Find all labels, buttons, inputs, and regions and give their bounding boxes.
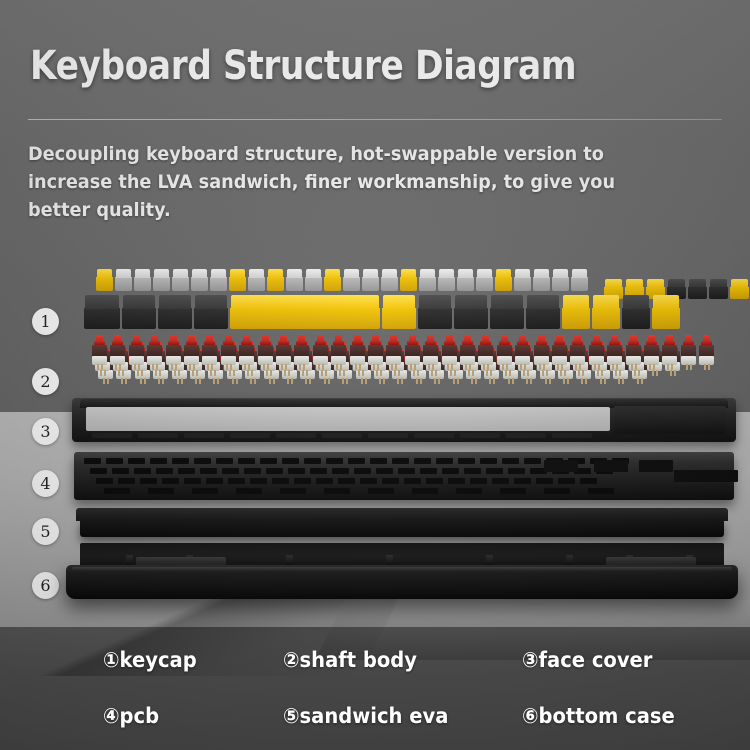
pcb-switch-cutout	[140, 478, 157, 484]
keycap-top	[439, 269, 454, 278]
keycap-top	[496, 269, 511, 278]
switch-pin	[325, 370, 327, 376]
switch-pin	[526, 378, 528, 384]
pcb-switch-cutout	[194, 458, 211, 464]
switch-pin	[487, 364, 489, 370]
switch-base	[92, 356, 107, 365]
keycap	[305, 269, 322, 291]
case-standoff	[286, 555, 293, 565]
switch-pin	[359, 364, 361, 370]
pcb-switch-cutout	[338, 478, 355, 484]
switch-pin	[299, 364, 301, 370]
switch-base	[681, 356, 696, 365]
keycap-skirt	[382, 308, 416, 329]
switch-pin	[171, 364, 173, 370]
switch-pin	[137, 370, 139, 376]
pcb-stabilizer	[639, 460, 673, 472]
mechanical-switch	[405, 335, 420, 365]
keycap-top	[135, 269, 150, 278]
pcb-switch-cutout	[150, 458, 167, 464]
pcb-switch-cutout	[288, 468, 305, 474]
switch-pin	[447, 364, 449, 370]
keycap	[730, 279, 749, 299]
switch-pin	[141, 370, 143, 376]
switch-pin	[502, 364, 504, 370]
switch-pin	[162, 378, 164, 384]
switch-pin	[155, 370, 157, 376]
switch-pin	[434, 378, 436, 384]
pcb-switch-cutout	[272, 478, 289, 484]
pcb-switch-cutout	[250, 478, 267, 484]
switch-pin	[125, 378, 127, 384]
switch-pin	[232, 378, 234, 384]
keycap-skirt	[267, 277, 284, 291]
keycap	[571, 269, 588, 291]
switch-pin	[213, 378, 215, 384]
keycap-top	[491, 295, 523, 309]
mechanical-switch	[276, 335, 291, 365]
switch-base	[350, 356, 365, 365]
switch-pin	[618, 378, 620, 384]
switch-base	[202, 356, 217, 365]
pcb-switch-cutout	[348, 458, 365, 464]
keycap-skirt	[709, 287, 728, 299]
keycap-top	[455, 295, 487, 309]
keycap-top	[306, 269, 321, 278]
switch-pin	[581, 378, 583, 384]
switch-pin	[211, 364, 213, 370]
switch-pin	[199, 378, 201, 384]
keycap-skirt	[381, 277, 398, 291]
switch-pin	[373, 364, 375, 370]
switch-pin	[431, 370, 433, 376]
switch-pin	[509, 370, 511, 376]
layer-sandwich-eva	[76, 508, 728, 538]
keycap-skirt	[194, 308, 228, 329]
pcb-switch-cutout	[508, 468, 525, 474]
face-cover-slot	[460, 433, 500, 438]
switch-pin	[379, 378, 381, 384]
pcb-switch-cutout	[464, 468, 481, 474]
switch-pin	[394, 370, 396, 376]
switch-pin	[355, 364, 357, 370]
keycap-top	[344, 269, 359, 278]
switch-pin	[416, 378, 418, 384]
pcb-switch-cutout	[216, 458, 233, 464]
switch-pin	[101, 364, 103, 370]
keycap	[552, 269, 569, 291]
pcb-switch-cutout	[304, 458, 321, 464]
switch-pin	[193, 364, 195, 370]
keycap-top	[563, 295, 589, 309]
switch-pin	[413, 370, 415, 376]
keycap-top	[458, 269, 473, 278]
switch-base	[644, 356, 659, 365]
keycap-top	[230, 269, 245, 278]
pcb-switch-cutout	[588, 488, 614, 494]
switch-pin	[244, 364, 246, 370]
switch-pin	[181, 378, 183, 384]
keycap-skirt	[400, 277, 417, 291]
switch-pin	[520, 364, 522, 370]
keycap-skirt	[622, 308, 650, 329]
switch-pin	[328, 378, 330, 384]
switch-pin	[380, 370, 382, 376]
mechanical-switch	[570, 335, 585, 365]
switch-pin	[432, 364, 434, 370]
switch-pin	[207, 364, 209, 370]
switch-pin	[287, 378, 289, 384]
switch-base	[276, 356, 291, 365]
switch-base	[184, 356, 199, 365]
face-cover-slot	[138, 433, 178, 438]
keycap-top	[382, 269, 397, 278]
keycap-skirt	[457, 277, 474, 291]
face-cover-slot	[92, 433, 132, 438]
keycap-top	[97, 269, 112, 278]
switch-pin	[100, 370, 102, 376]
keycap	[343, 269, 360, 291]
face-cover-slot	[230, 433, 270, 438]
keycap-top	[154, 269, 169, 278]
keycap	[115, 269, 132, 291]
switch-base	[626, 356, 641, 365]
switch-pin	[303, 364, 305, 370]
layer-face-cover	[72, 398, 736, 442]
keycap	[457, 269, 474, 291]
legend-item-sandwich-eva: ⑤sandwich eva	[283, 704, 448, 728]
switch-pin	[585, 378, 587, 384]
pcb-switch-cutout	[280, 488, 306, 494]
switch-pin	[505, 370, 507, 376]
switch-pin	[641, 378, 643, 384]
mechanical-switch	[386, 335, 401, 365]
switch-base	[386, 356, 401, 365]
pcb-switch-cutout	[222, 468, 239, 474]
layer-pcb	[74, 452, 734, 500]
keycap	[382, 295, 416, 329]
keycap	[476, 269, 493, 291]
switch-pin	[336, 364, 338, 370]
switch-base	[552, 356, 567, 365]
pcb-switch-cutout	[580, 478, 597, 484]
keycap-top	[268, 269, 283, 278]
mechanical-switch	[350, 335, 365, 365]
exploded-keyboard-stack	[0, 255, 750, 635]
switch-base	[129, 356, 144, 365]
mechanical-switch	[294, 335, 309, 365]
pcb-switch-cutout	[404, 478, 421, 484]
pcb-switch-cutout	[266, 468, 283, 474]
keycap	[652, 295, 680, 329]
switch-pin	[604, 378, 606, 384]
switch-pin	[472, 370, 474, 376]
switch-pin	[564, 370, 566, 376]
switch-pin	[637, 378, 639, 384]
keycap-skirt	[418, 308, 452, 329]
pcb-switch-cutout	[536, 478, 553, 484]
switch-pin	[362, 370, 364, 376]
switch-pin	[468, 370, 470, 376]
switch-pin	[619, 370, 621, 376]
mechanical-switch	[607, 335, 622, 365]
switch-pin	[546, 370, 548, 376]
switch-pin	[563, 378, 565, 384]
keycap	[172, 269, 189, 291]
keycap-top	[211, 269, 226, 278]
keycap	[709, 279, 728, 299]
pcb-switch-cutout	[178, 468, 195, 474]
keycap	[454, 295, 488, 329]
switch-pin	[377, 364, 379, 370]
switch-pin	[597, 370, 599, 376]
mechanical-switch	[497, 335, 512, 365]
switch-pin	[339, 370, 341, 376]
pcb-switch-cutout	[244, 468, 261, 474]
pcb-switch-cutout	[412, 488, 438, 494]
face-cover-right-cluster	[614, 406, 726, 434]
switch-base	[534, 356, 549, 365]
pcb-switch-cutout	[458, 458, 475, 464]
keycap-top	[419, 295, 451, 309]
switch-pin	[465, 364, 467, 370]
switch-pin	[490, 370, 492, 376]
keycap-top	[668, 279, 685, 287]
switch-pin	[567, 378, 569, 384]
layer-keycaps	[84, 269, 732, 329]
keycap-skirt	[688, 287, 707, 299]
pcb-switch-cutout	[370, 458, 387, 464]
switch-pin	[177, 378, 179, 384]
keycap-skirt	[153, 277, 170, 291]
switch-pin	[134, 364, 136, 370]
switch-pin	[530, 378, 532, 384]
pcb-switch-cutout	[128, 458, 145, 464]
keycap-top	[593, 295, 619, 309]
switch-pin	[395, 364, 397, 370]
keycap-skirt	[191, 277, 208, 291]
keycap-skirt	[115, 277, 132, 291]
mechanical-switch	[129, 335, 144, 365]
pcb-switch-cutout	[480, 458, 497, 464]
switch-pin	[217, 378, 219, 384]
switch-pin	[438, 378, 440, 384]
layer-bottom-case	[66, 543, 738, 605]
pcb-switch-cutout	[106, 458, 123, 464]
switch-pin	[454, 370, 456, 376]
switch-base	[147, 356, 162, 365]
switch-pin	[229, 370, 231, 376]
mechanical-switch	[626, 335, 641, 365]
pcb-switch-cutout	[392, 458, 409, 464]
switch-pin	[508, 378, 510, 384]
switch-pin	[414, 364, 416, 370]
switch-pin	[138, 364, 140, 370]
switch-pin	[195, 378, 197, 384]
switch-pin	[178, 370, 180, 376]
keycap	[533, 269, 550, 291]
mechanical-switch	[92, 335, 107, 365]
keycap	[688, 279, 707, 299]
keycap-top	[689, 279, 706, 287]
pcb-stabilizer	[594, 460, 628, 472]
keycap-skirt	[419, 277, 436, 291]
switch-pin	[557, 364, 559, 370]
page-subtitle: Decoupling keyboard structure, hot-swapp…	[28, 140, 672, 224]
switch-pin	[361, 378, 363, 384]
pcb-switch-cutout	[456, 488, 482, 494]
keycap	[191, 269, 208, 291]
mechanical-switch	[331, 335, 346, 365]
keycap-skirt	[730, 287, 749, 299]
switch-pin	[159, 370, 161, 376]
pcb-switch-cutout	[134, 468, 151, 474]
keycap-skirt	[476, 277, 493, 291]
switch-pin	[656, 370, 658, 376]
face-cover-slot	[322, 433, 362, 438]
mechanical-switch	[313, 335, 328, 365]
case-standoff	[386, 555, 393, 565]
pcb-switch-cutout	[426, 478, 443, 484]
switch-base	[662, 356, 677, 365]
switch-pin	[144, 378, 146, 384]
switch-pin	[398, 370, 400, 376]
switch-pin	[615, 370, 617, 376]
switch-pin	[97, 364, 99, 370]
pcb-switch-cutout	[514, 478, 531, 484]
keycap-skirt	[652, 308, 680, 329]
keycap-skirt	[592, 308, 620, 329]
switch-base	[368, 356, 383, 365]
switch-pin	[561, 364, 563, 370]
switch-pin	[281, 364, 283, 370]
legend-item-keycap: ①keycap	[103, 648, 197, 672]
keycap	[526, 295, 560, 329]
switch-pin	[306, 370, 308, 376]
switch-base	[331, 356, 346, 365]
switch-pin	[342, 378, 344, 384]
case-standoff	[566, 555, 573, 565]
switch-pin	[324, 378, 326, 384]
switch-pin	[527, 370, 529, 376]
pcb-switch-cutout	[104, 488, 130, 494]
pcb-switch-cutout	[382, 478, 399, 484]
switch-pin	[346, 378, 348, 384]
switch-pin	[670, 370, 672, 376]
keycap-skirt	[324, 277, 341, 291]
pcb-switch-cutout	[238, 458, 255, 464]
legend-item-pcb: ④pcb	[103, 704, 159, 728]
switch-base	[110, 356, 125, 365]
switch-pin	[549, 378, 551, 384]
pcb-switch-cutout	[414, 458, 431, 464]
mechanical-switch	[515, 335, 530, 365]
pcb-switch-cutout	[332, 468, 349, 474]
switch-pin	[489, 378, 491, 384]
switch-pin	[469, 364, 471, 370]
keycap-skirt	[343, 277, 360, 291]
switch-pin	[560, 370, 562, 376]
pcb-switch-cutout	[316, 478, 333, 484]
keycap-top	[553, 269, 568, 278]
legend-item-shaft-body: ②shaft body	[283, 648, 417, 672]
pcb-switch-cutout	[118, 478, 135, 484]
keycap-top	[192, 269, 207, 278]
face-cover-slot	[506, 433, 546, 438]
switch-pin	[428, 364, 430, 370]
keycap	[419, 269, 436, 291]
keycap-top	[123, 295, 155, 309]
switch-pin	[192, 370, 194, 376]
keycap	[158, 295, 192, 329]
switch-base	[607, 356, 622, 365]
face-cover-slot	[276, 433, 316, 438]
pcb-switch-cutout	[470, 478, 487, 484]
mechanical-switch	[166, 335, 181, 365]
switch-pin	[302, 370, 304, 376]
keycap	[381, 269, 398, 291]
switch-pin	[612, 364, 614, 370]
switch-base	[294, 356, 309, 365]
pcb-switch-cutout	[112, 468, 129, 474]
keycap-top	[534, 269, 549, 278]
switch-pin	[107, 378, 109, 384]
legend-item-face-cover: ③face cover	[522, 648, 652, 672]
keycap-top	[515, 269, 530, 278]
keycap-top	[401, 269, 416, 278]
switch-pin	[343, 370, 345, 376]
keycap-top	[231, 295, 379, 309]
mechanical-switch	[534, 335, 549, 365]
pcb-stabilizer	[544, 460, 578, 472]
mechanical-switch	[460, 335, 475, 365]
switch-pin	[671, 364, 673, 370]
pcb-switch-cutout	[398, 468, 415, 474]
keycap-skirt	[562, 308, 590, 329]
keycap-top	[626, 279, 643, 287]
switch-pin	[266, 370, 268, 376]
switch-pin	[631, 364, 633, 370]
mechanical-switch	[644, 335, 659, 365]
keycap	[96, 269, 113, 291]
mechanical-switch	[699, 335, 714, 365]
pcb-switch-cutout	[368, 488, 394, 494]
keycap-top	[710, 279, 727, 287]
switch-pin	[321, 370, 323, 376]
face-cover-slot	[368, 433, 408, 438]
keycap-top	[605, 279, 622, 287]
legend: ①keycap②shaft body③face cover④pcb⑤sandwi…	[0, 634, 750, 750]
switch-pin	[233, 370, 235, 376]
switch-pin	[267, 364, 269, 370]
pcb-switch-cutout	[376, 468, 393, 474]
switch-pin	[704, 364, 706, 370]
switch-pin	[251, 370, 253, 376]
pcb-switch-cutout	[442, 468, 459, 474]
mechanical-switch	[110, 335, 125, 365]
keycap-top	[420, 269, 435, 278]
switch-pin	[236, 378, 238, 384]
pcb-switch-cutout	[294, 478, 311, 484]
switch-base	[239, 356, 254, 365]
keycap-skirt	[84, 308, 120, 329]
pcb-switch-cutout	[544, 488, 570, 494]
pcb-switch-cutout	[282, 458, 299, 464]
case-standoff	[486, 555, 493, 565]
switch-pin	[622, 378, 624, 384]
keycap-top	[173, 269, 188, 278]
keycap-top	[572, 269, 587, 278]
